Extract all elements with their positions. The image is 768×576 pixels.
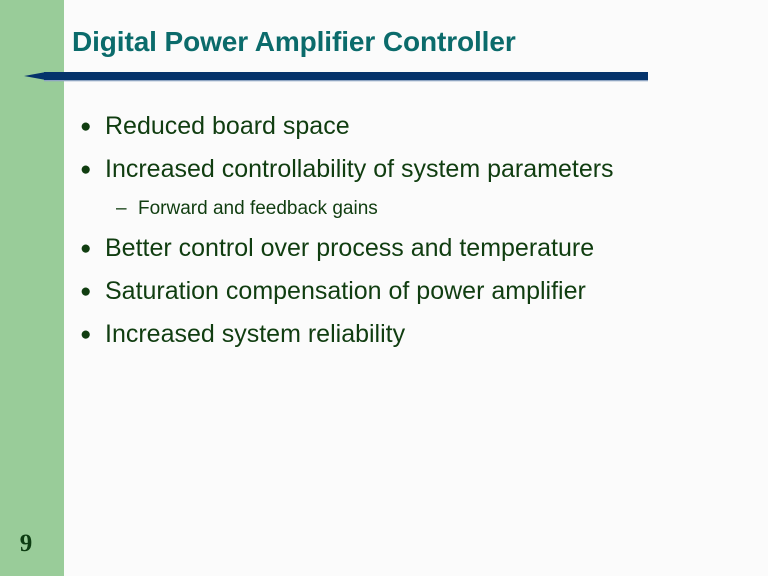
list-item: ● Reduced board space	[80, 105, 760, 148]
slide-number: 9	[0, 531, 52, 556]
list-item-label: Reduced board space	[105, 105, 350, 148]
list-item: ● Increased system reliability	[80, 313, 760, 356]
slide-title: Digital Power Amplifier Controller	[72, 26, 516, 58]
sub-list-item-label: Forward and feedback gains	[138, 191, 378, 227]
list-item-label: Increased system reliability	[105, 313, 405, 356]
list-item-label: Increased controllability of system para…	[105, 148, 614, 191]
sub-list-item: – Forward and feedback gains	[116, 191, 760, 227]
list-item: ● Saturation compensation of power ampli…	[80, 270, 760, 313]
bullet-dot-icon: ●	[80, 313, 105, 356]
bullet-dot-icon: ●	[80, 227, 105, 270]
bullet-dot-icon: ●	[80, 148, 105, 191]
list-item-label: Better control over process and temperat…	[105, 227, 594, 270]
bullet-dot-icon: ●	[80, 270, 105, 313]
left-accent-band	[0, 0, 64, 576]
title-underline-arrow	[24, 66, 648, 86]
list-item: ● Better control over process and temper…	[80, 227, 760, 270]
bullet-dash-icon: –	[116, 191, 138, 227]
presentation-slide: 9 Digital Power Amplifier Controller ● R…	[0, 0, 768, 576]
bullet-list: ● Reduced board space ● Increased contro…	[80, 105, 760, 356]
bullet-dot-icon: ●	[80, 105, 105, 148]
list-item: ● Increased controllability of system pa…	[80, 148, 760, 191]
list-item-label: Saturation compensation of power amplifi…	[105, 270, 586, 313]
